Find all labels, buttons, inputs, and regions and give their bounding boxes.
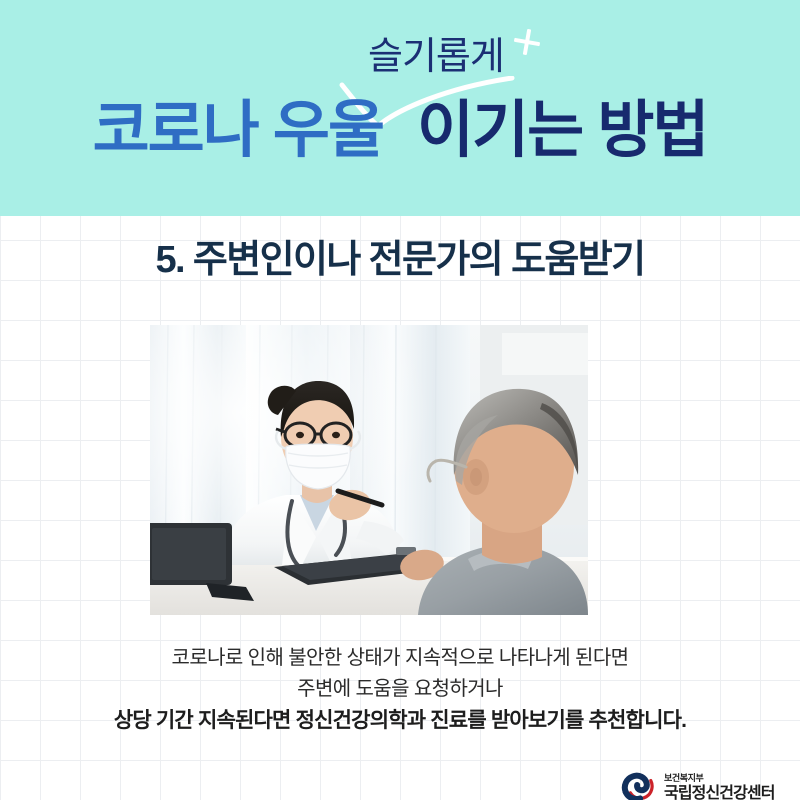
header-banner: 슬기롭게 코로나 우울이기는 방법 [0,0,800,216]
consultation-photo-illustration [150,325,588,615]
logo-ministry-name: 보건복지부 [664,773,775,784]
logo-center-name: 국립정신건강센터 [664,784,775,800]
header-script-word: 슬기롭게 [368,38,504,76]
section-heading: 5. 주변인이나 전문가의 도움받기 [0,237,800,283]
page-title-part1: 코로나 우울 [93,96,383,165]
taegeuk-icon [620,770,656,800]
organization-logo: 보건복지부 국립정신건강센터 [620,768,790,800]
body-copy-line-3: 상당 기간 지속된다면 정신건강의학과 진료를 받아보기를 추천합니다. [0,705,800,736]
plus-icon [512,28,542,58]
body-copy: 코로나로 인해 불안한 상태가 지속적으로 나타나게 된다면 주변에 도움을 요… [0,643,800,736]
body-copy-line-2: 주변에 도움을 요청하거나 [0,674,800,705]
body-copy-line-1: 코로나로 인해 불안한 상태가 지속적으로 나타나게 된다면 [0,643,800,674]
logo-text-block: 보건복지부 국립정신건강센터 [664,773,775,800]
page-title: 코로나 우울이기는 방법 [0,92,800,170]
infographic-card: 슬기롭게 코로나 우울이기는 방법 5. 주변인이나 전문가의 도움받기 [0,0,800,800]
page-title-part2: 이기는 방법 [417,96,707,165]
consultation-photo [150,325,588,615]
